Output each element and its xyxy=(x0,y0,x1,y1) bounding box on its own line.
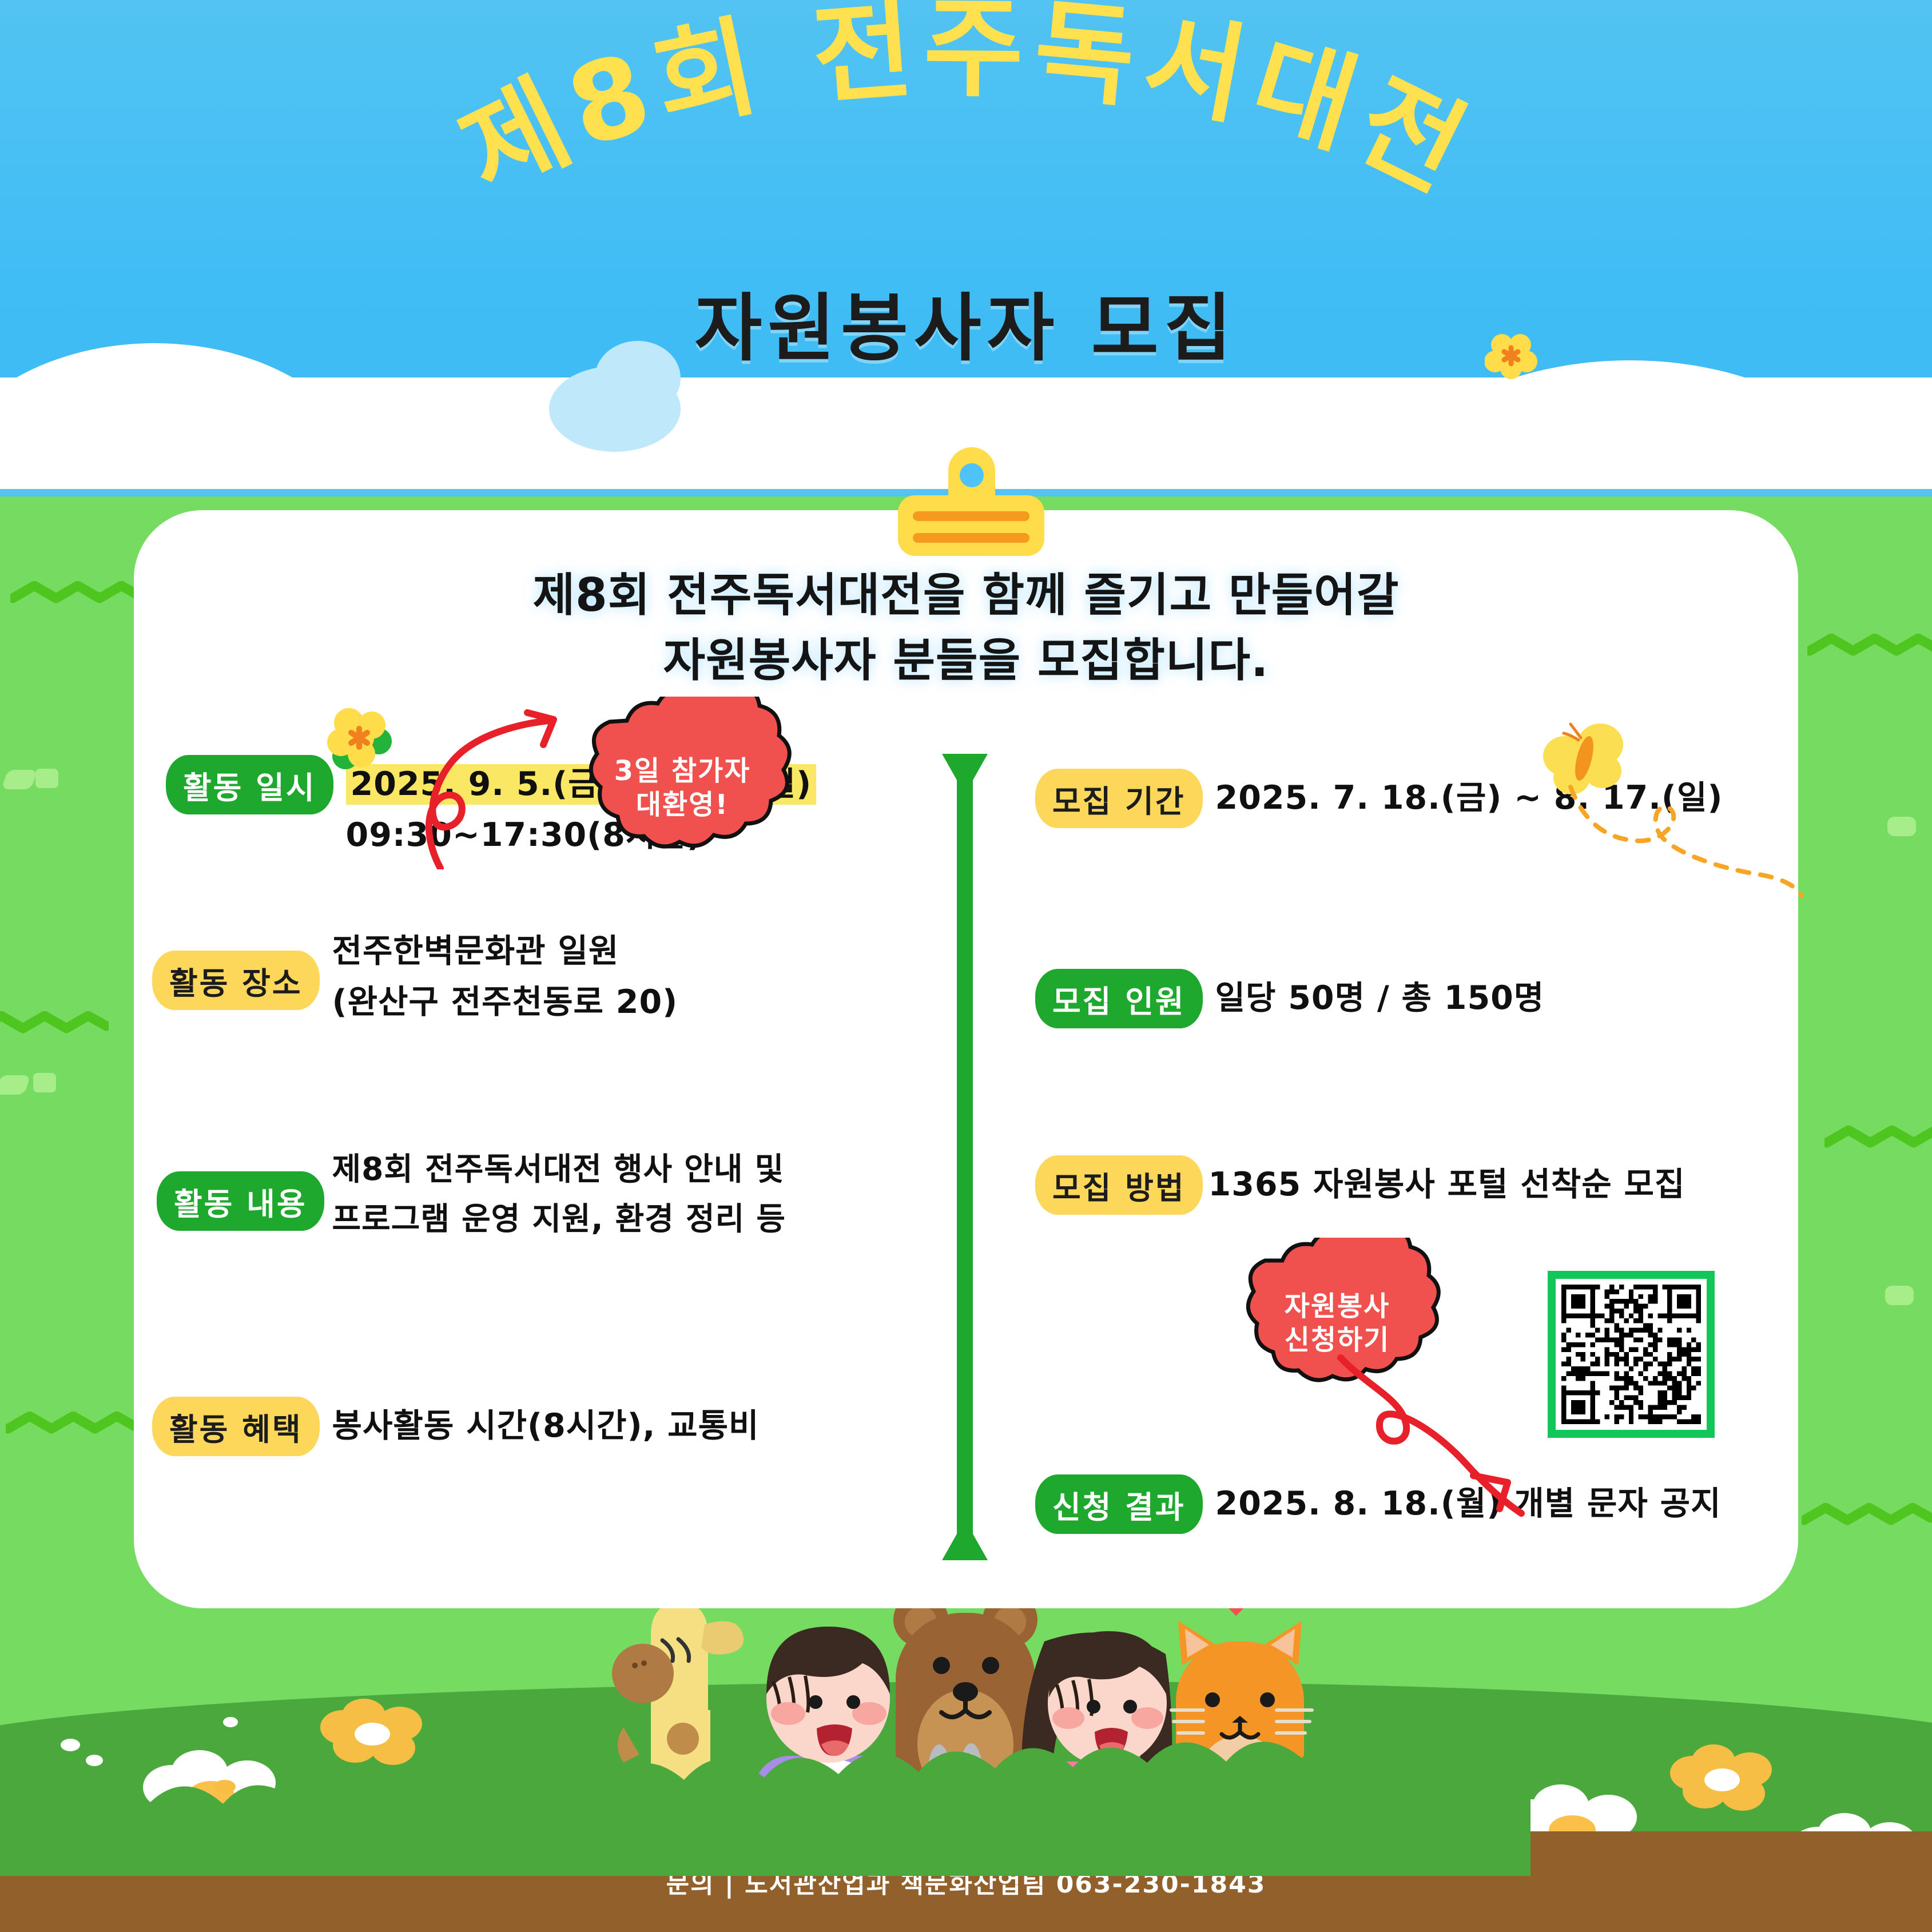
row-label-result-notice: 신청 결과 xyxy=(1035,1474,1203,1534)
clip-icon xyxy=(898,447,1044,556)
row-value-line1: 전주한벽문화관 일원 xyxy=(332,932,619,970)
leaf-decoration xyxy=(1885,1286,1914,1305)
leaf-decoration xyxy=(0,1075,31,1095)
intro-line-2: 자원봉사자 분들을 모집합니다. xyxy=(134,628,1798,693)
flower-icon xyxy=(326,707,395,776)
zigzag-decoration xyxy=(1824,1126,1932,1152)
row-label-recruit-period: 모집 기간 xyxy=(1035,769,1203,828)
curved-arrow-icon xyxy=(1333,1354,1573,1526)
row-value-recruit-count: 일당 50명 / 총 150명 xyxy=(1215,969,1545,1020)
svg-text:제8회 전주독서대전: 제8회 전주독서대전 xyxy=(443,0,1490,217)
zigzag-decoration xyxy=(0,1011,109,1037)
event-title-textpath: 제8회 전주독서대전 xyxy=(443,0,1490,217)
qr-matrix xyxy=(1561,1285,1701,1424)
leaf-decoration xyxy=(33,1073,56,1092)
poster-root: 제8회 전주독서대전 자원봉사자 모집 제8회 전주독서대전을 함께 즐기고 만… xyxy=(0,0,1932,1932)
row-label-recruit-method: 모집 방법 xyxy=(1035,1155,1203,1215)
leaf-decoration xyxy=(1887,817,1916,836)
row-value-activity-content: 제8회 전주독서대전 행사 안내 및 프로그램 운영 지원, 환경 정리 등 xyxy=(332,1148,786,1239)
zigzag-decoration xyxy=(6,1412,137,1438)
row-label-activity-place: 활동 장소 xyxy=(152,951,320,1010)
row-label-activity-date: 활동 일시 xyxy=(166,755,333,814)
volunteer-application-qr-code[interactable] xyxy=(1548,1271,1715,1438)
row-value-line1: 1365 자원봉사 포털 선착순 모집 xyxy=(1209,1166,1685,1203)
zigzag-decoration xyxy=(1807,634,1932,660)
info-row-recruit-method: 모집 방법 1365 자원봉사 포털 선착순 모집 xyxy=(1035,1155,1685,1215)
row-value-activity-benefit: 봉사활동 시간(8시간), 교통비 xyxy=(332,1397,760,1448)
info-row-activity-place: 활동 장소 전주한벽문화관 일원 (완산구 전주천동로 20) xyxy=(152,951,678,1024)
intro-text: 제8회 전주독서대전을 함께 즐기고 만들어갈 자원봉사자 분들을 모집합니다. xyxy=(134,563,1798,693)
leaf-decoration xyxy=(1,770,37,789)
petal-decoration xyxy=(223,1717,238,1727)
row-value-line1: 제8회 전주독서대전 행사 안내 및 xyxy=(332,1151,785,1187)
row-label-recruit-count: 모집 인원 xyxy=(1035,969,1203,1028)
leaf-decoration xyxy=(35,769,58,788)
row-label-activity-benefit: 활동 혜택 xyxy=(152,1397,320,1456)
row-value-activity-place: 전주한벽문화관 일원 (완산구 전주천동로 20) xyxy=(332,930,678,1024)
curved-arrow-icon xyxy=(414,709,574,869)
bush-row-foreground xyxy=(0,1739,1932,1876)
intro-line-1: 제8회 전주독서대전을 함께 즐기고 만들어갈 xyxy=(134,563,1798,628)
butterfly-trail-icon xyxy=(1567,784,1807,927)
row-value-line1: 봉사활동 시간(8시간), 교통비 xyxy=(332,1407,760,1445)
flower-icon xyxy=(1485,331,1537,382)
info-row-activity-content: 활동 내용 제8회 전주독서대전 행사 안내 및 프로그램 운영 지원, 환경 … xyxy=(157,1171,786,1239)
zigzag-decoration xyxy=(1802,1503,1932,1529)
participation-bubble: 3일 참가자 대환영! xyxy=(559,697,805,880)
info-row-activity-benefit: 활동 혜택 봉사활동 시간(8시간), 교통비 xyxy=(152,1397,759,1456)
row-value-line1: 일당 50명 / 총 150명 xyxy=(1215,979,1545,1017)
row-label-activity-content: 활동 내용 xyxy=(157,1171,324,1231)
column-divider xyxy=(936,754,993,1560)
row-value-recruit-method: 1365 자원봉사 포털 선착순 모집 xyxy=(1209,1155,1685,1206)
row-value-line2: 프로그램 운영 지원, 환경 정리 등 xyxy=(332,1198,786,1240)
poster-subtitle: 자원봉사자 모집 xyxy=(0,269,1932,375)
zigzag-decoration xyxy=(10,581,142,607)
info-row-recruit-count: 모집 인원 일당 50명 / 총 150명 xyxy=(1035,969,1544,1028)
row-value-line2: (완산구 전주천동로 20) xyxy=(332,981,678,1024)
